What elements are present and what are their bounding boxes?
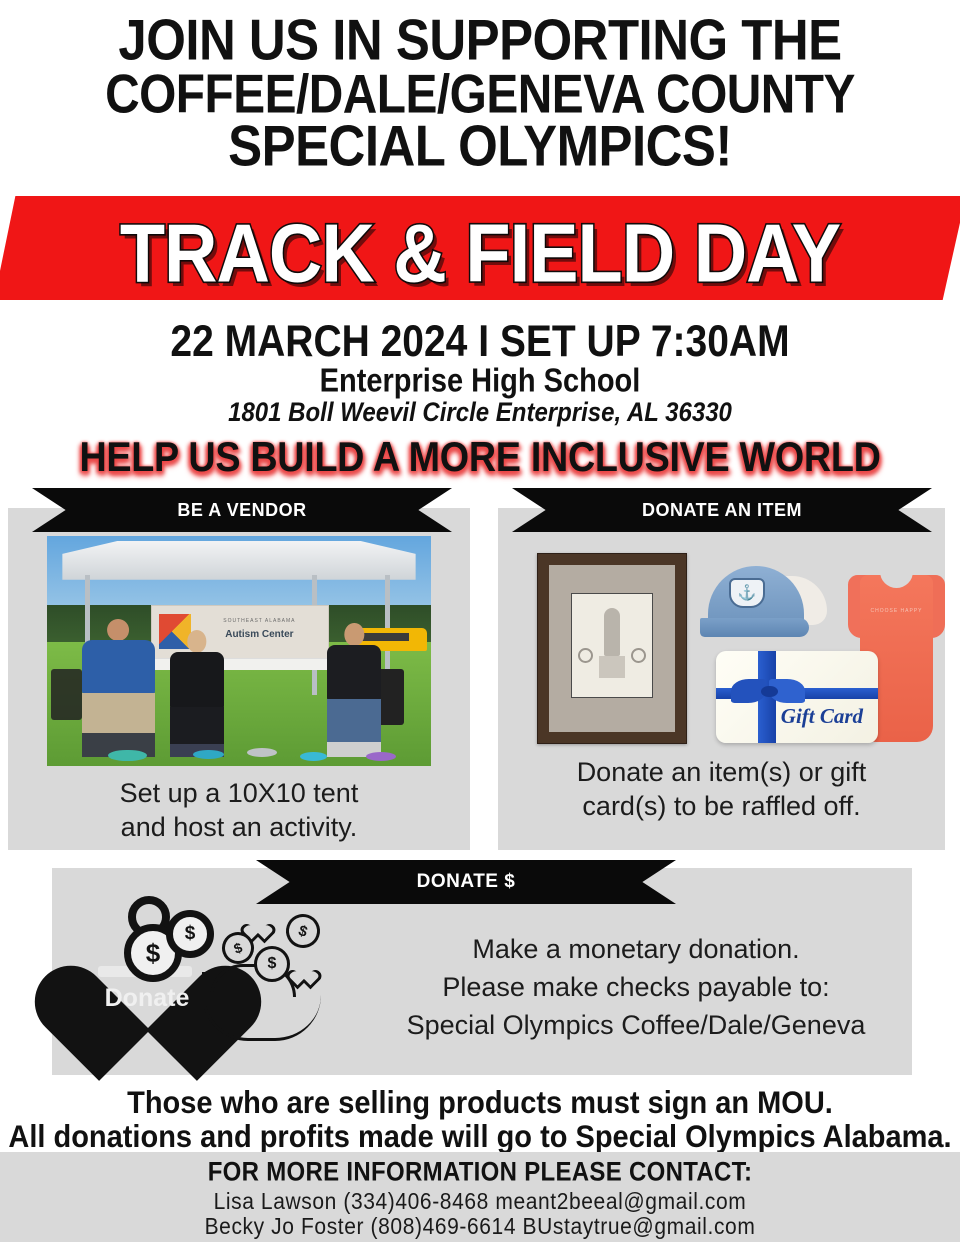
art-statue-base (599, 656, 625, 679)
donate-icon-word: Donate (72, 984, 222, 1013)
gift-card-bow-knot (761, 686, 777, 697)
blue-trucker-cap: ⚓ (700, 566, 830, 648)
event-address: 1801 Boll Weevil Circle Enterprise, AL 3… (0, 398, 960, 429)
ribbon-label-item: DONATE AN ITEM (642, 500, 802, 521)
photo-tent-canopy (62, 541, 415, 580)
footer-contact-1: Lisa Lawson (334)406-8468 meant2beeal@gm… (0, 1189, 960, 1215)
caption-item-line-1: Donate an item(s) or gift (498, 755, 945, 789)
donate-heart-icon: Donate $ $ $ $ $ (72, 888, 342, 1060)
footer-heading: FOR MORE INFORMATION PLEASE CONTACT: (0, 1157, 960, 1188)
cap-patch: ⚓ (729, 578, 765, 607)
caption-money-line-1: Make a monetary donation. (360, 930, 912, 968)
headline-line-3: SPECIAL OLYMPICS! (0, 116, 960, 179)
cap-brim (700, 618, 809, 636)
donate-coin-float-3: $ (282, 910, 325, 953)
event-banner-title: TRACK & FIELD DAY (0, 202, 960, 305)
ribbon-be-a-vendor: BE A VENDOR (32, 488, 452, 532)
photo-person-1 (82, 619, 155, 757)
gift-card: Gift Card (716, 651, 878, 743)
donate-small-heart-1 (248, 916, 265, 932)
donate-coin-float-2: $ (254, 946, 290, 982)
art-lamp-left (578, 648, 593, 663)
photo-disc-3 (247, 748, 278, 757)
photo-person-3 (327, 623, 381, 756)
art-lamp-right (631, 648, 646, 663)
footer-contact-2: Becky Jo Foster (808)469-6614 BUstaytrue… (0, 1214, 960, 1240)
anchor-icon: ⚓ (737, 585, 756, 600)
art-inner (571, 593, 653, 698)
caption-item-line-2: card(s) to be raffled off. (498, 789, 945, 823)
event-date-time: 22 MARCH 2024 I SET UP 7:30AM (0, 317, 960, 368)
caption-donate-an-item: Donate an item(s) or gift card(s) to be … (498, 755, 945, 823)
caption-vendor-line-2: and host an activity. (8, 810, 470, 844)
photo-banner-line-1: SOUTHEAST ALABAMA (198, 618, 322, 624)
ribbon-label-vendor: BE A VENDOR (177, 500, 306, 521)
art-mat (549, 565, 675, 732)
event-tagline: HELP US BUILD A MORE INCLUSIVE WORLD (0, 432, 960, 482)
donate-coin-medium: $ (166, 910, 214, 958)
photo-disc-2 (193, 750, 224, 759)
caption-money-line-2: Please make checks payable to: (360, 968, 912, 1006)
ribbon-donate-money: DONATE $ (256, 860, 676, 904)
photo-person-2 (170, 630, 224, 757)
gift-card-label: Gift Card (781, 704, 875, 729)
vendor-tent-photo: SOUTHEAST ALABAMA Autism Center (47, 536, 431, 766)
donate-small-heart-2 (294, 962, 311, 978)
page-title: JOIN US IN SUPPORTING THE COFFEE/DALE/GE… (0, 10, 960, 169)
event-venue: Enterprise High School (0, 363, 960, 401)
caption-money-line-3: Special Olympics Coffee/Dale/Geneva (360, 1006, 912, 1044)
photo-folding-chair-left (51, 669, 82, 720)
tshirt-slogan: CHOOSE HAPPY (865, 608, 927, 614)
art-statue-figure (604, 608, 620, 655)
caption-vendor-line-1: Set up a 10X10 tent (8, 776, 470, 810)
ribbon-donate-an-item: DONATE AN ITEM (512, 488, 932, 532)
ribbon-label-money: DONATE $ (417, 871, 516, 893)
framed-art-print (537, 553, 687, 744)
caption-donate-money: Make a monetary donation. Please make ch… (360, 930, 912, 1044)
caption-be-a-vendor: Set up a 10X10 tent and host an activity… (8, 776, 470, 844)
